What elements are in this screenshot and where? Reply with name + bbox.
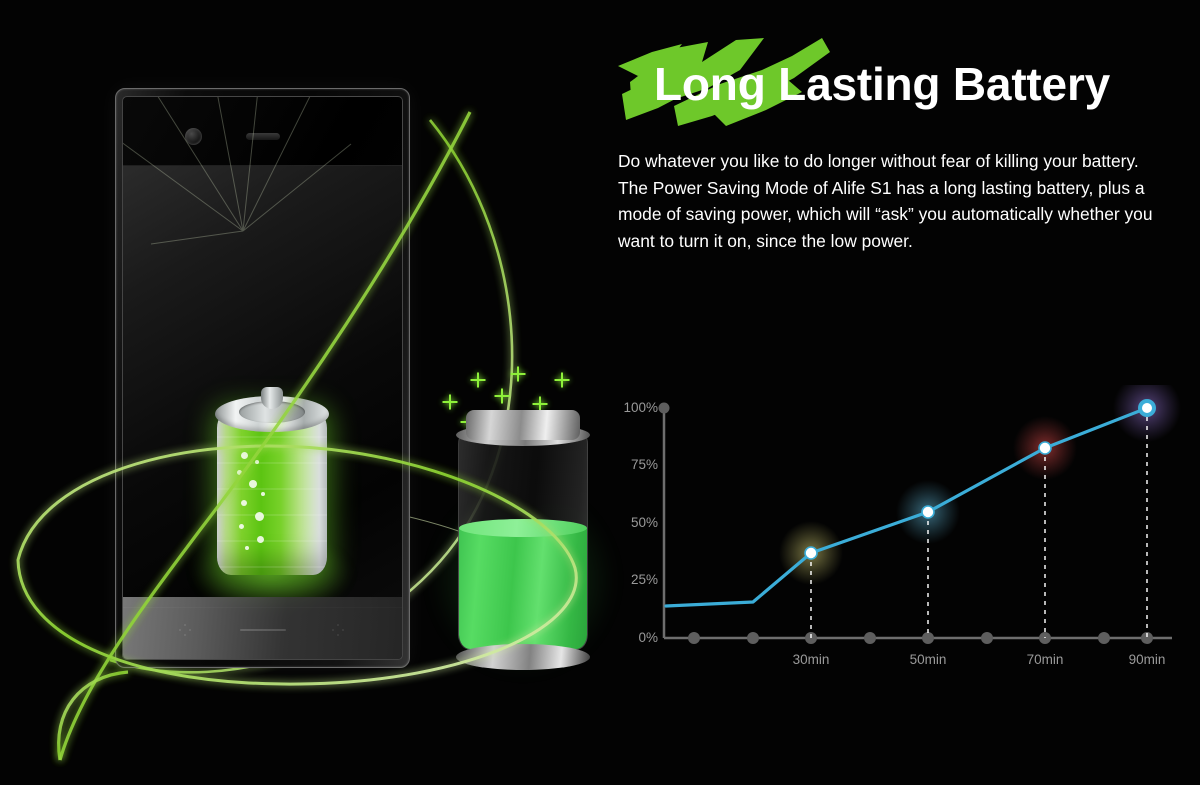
y-tick-0: 0% <box>612 630 658 645</box>
battery-bubbles <box>235 448 275 558</box>
y-tick-75: 75% <box>612 457 658 472</box>
screen-battery-graphic <box>213 384 331 584</box>
page-title: Long Lasting Battery <box>654 57 1110 111</box>
phone-chin <box>123 597 402 659</box>
phone-screen <box>123 165 402 605</box>
sparkle-icon <box>470 372 486 388</box>
smartphone-device <box>115 88 410 668</box>
sparkle-icon <box>554 372 570 388</box>
x-tick-50min: 50min <box>893 652 963 667</box>
marker-point-30min <box>805 547 817 559</box>
x-tick-90min: 90min <box>1112 652 1182 667</box>
content-column: Long Lasting Battery Do whatever you lik… <box>612 0 1200 785</box>
phone-inner-frame <box>122 96 403 660</box>
x-tick-30min: 30min <box>776 652 846 667</box>
glass-battery-fill <box>459 528 587 649</box>
chart-plot-area <box>626 385 1186 675</box>
x-tick-70min: 70min <box>1010 652 1080 667</box>
y-axis-top-dot <box>659 403 670 414</box>
marker-point-70min <box>1039 442 1051 454</box>
glass-battery-shell <box>458 428 588 650</box>
marker-point-50min <box>922 506 934 518</box>
battery-terminal <box>261 387 283 409</box>
glass-battery-cap <box>466 410 580 440</box>
product-artwork <box>0 0 620 785</box>
battery-body <box>217 410 327 575</box>
battery-light-rays <box>122 96 353 246</box>
battery-charge-chart: 100% 75% 50% 25% 0% 30min 50min 70min 90… <box>626 385 1186 675</box>
headline-block: Long Lasting Battery <box>612 32 1152 132</box>
sparkle-icon <box>510 366 526 382</box>
y-tick-25: 25% <box>612 572 658 587</box>
y-tick-50: 50% <box>612 515 658 530</box>
glass-battery-base <box>456 644 590 670</box>
y-tick-100: 100% <box>612 400 658 415</box>
sparkle-icon <box>494 388 510 404</box>
glass-battery-graphic <box>452 410 594 670</box>
description-text: Do whatever you like to do longer withou… <box>618 148 1163 254</box>
promo-banner: Long Lasting Battery Do whatever you lik… <box>0 0 1200 785</box>
marker-point-90min <box>1142 403 1152 413</box>
sparkle-icon <box>442 394 458 410</box>
